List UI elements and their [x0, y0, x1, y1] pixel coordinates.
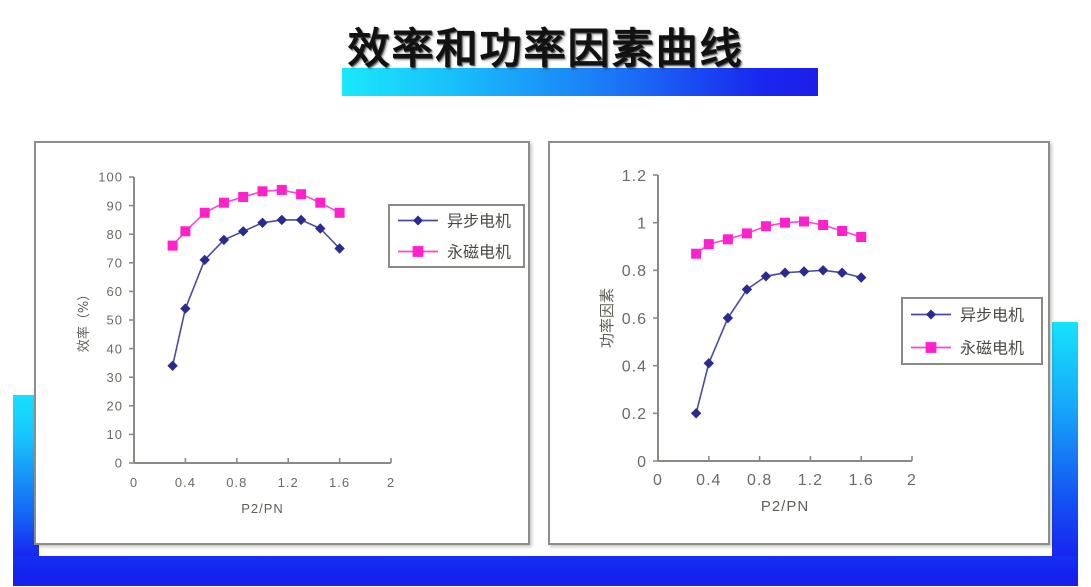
y-tick-label: 50	[107, 313, 123, 328]
data-point-marker-diamond	[238, 226, 248, 236]
x-tick-label: 0.4	[175, 475, 196, 490]
y-tick-label: 30	[107, 370, 123, 385]
legend-marker-square	[413, 246, 424, 257]
power-factor-chart-svg: 00.20.40.60.811.200.40.81.21.62P2/PN功率因素…	[550, 143, 1048, 543]
data-point-marker-square	[219, 198, 229, 208]
x-tick-label: 2	[907, 472, 917, 489]
chart-legend: 异步电机永磁电机	[902, 298, 1042, 364]
data-point-marker-diamond	[704, 358, 714, 368]
y-tick-label: 70	[107, 255, 123, 270]
data-point-marker-square	[780, 218, 790, 228]
data-point-marker-square	[691, 249, 701, 259]
y-tick-label: 20	[107, 398, 123, 413]
decorative-right-accent-bar	[1052, 322, 1078, 562]
x-tick-label: 1.2	[278, 475, 299, 490]
y-tick-label: 90	[107, 198, 123, 213]
data-point-marker-diamond	[818, 265, 828, 275]
data-point-marker-square	[315, 198, 325, 208]
x-tick-label: 0	[130, 475, 138, 490]
efficiency-plot-area: 010203040506070809010000.40.81.21.62P2/P…	[36, 143, 528, 543]
data-point-marker-diamond	[742, 284, 752, 294]
legend-label-permanent-magnet: 永磁电机	[447, 243, 511, 262]
x-tick-label: 2	[387, 475, 395, 490]
data-point-marker-diamond	[277, 215, 287, 225]
data-point-marker-square	[296, 189, 306, 199]
y-tick-label: 0.4	[622, 358, 647, 375]
data-point-marker-square	[168, 241, 178, 251]
data-point-marker-diamond	[761, 271, 771, 281]
data-point-marker-diamond	[167, 361, 177, 371]
efficiency-chart-svg: 010203040506070809010000.40.81.21.62P2/P…	[36, 143, 528, 543]
data-point-marker-square	[742, 228, 752, 238]
slide-title-block: 效率和功率因素曲线	[0, 18, 1091, 110]
data-point-marker-square	[837, 226, 847, 236]
x-tick-label: 0.8	[747, 472, 772, 489]
x-tick-label: 1.2	[798, 472, 823, 489]
y-axis-title: 效率（%）	[76, 288, 92, 352]
data-point-marker-diamond	[257, 218, 267, 228]
efficiency-chart-panel: 010203040506070809010000.40.81.21.62P2/P…	[34, 141, 530, 545]
y-tick-label: 0	[637, 454, 647, 471]
y-tick-label: 0.6	[622, 311, 647, 328]
y-tick-label: 1	[637, 215, 647, 232]
x-tick-label: 0.4	[696, 472, 721, 489]
y-tick-label: 80	[107, 227, 123, 242]
data-point-marker-diamond	[780, 268, 790, 278]
data-point-marker-square	[335, 208, 345, 218]
y-tick-label: 40	[107, 341, 123, 356]
series-line-permanent-magnet	[696, 222, 861, 254]
y-tick-label: 10	[107, 427, 123, 442]
legend-label-permanent-magnet: 永磁电机	[960, 339, 1024, 358]
data-point-marker-square	[799, 217, 809, 227]
data-point-marker-diamond	[691, 408, 701, 418]
page-title: 效率和功率因素曲线	[0, 18, 1091, 80]
data-point-marker-square	[258, 186, 268, 196]
legend-label-asynchronous: 异步电机	[447, 212, 511, 231]
y-tick-label: 1.2	[622, 168, 647, 185]
series-line-asynchronous	[173, 220, 340, 366]
data-point-marker-square	[704, 239, 714, 249]
power-factor-chart-panel: 00.20.40.60.811.200.40.81.21.62P2/PN功率因素…	[548, 141, 1050, 545]
data-point-marker-square	[277, 185, 287, 195]
data-point-marker-square	[200, 208, 210, 218]
series-line-permanent-magnet	[173, 190, 340, 246]
y-tick-label: 60	[107, 284, 123, 299]
data-point-marker-square	[856, 232, 866, 242]
data-point-marker-diamond	[180, 303, 190, 313]
data-point-marker-diamond	[296, 215, 306, 225]
legend-marker-square	[926, 342, 937, 353]
data-point-marker-square	[238, 192, 248, 202]
y-axis-title: 功率因素	[598, 288, 616, 348]
data-point-marker-diamond	[856, 272, 866, 282]
y-tick-label: 0	[115, 456, 123, 471]
data-point-marker-diamond	[799, 266, 810, 276]
data-point-marker-diamond	[723, 313, 733, 323]
series-line-asynchronous	[696, 270, 861, 413]
x-axis-title: P2/PN	[761, 498, 809, 515]
power-factor-plot-area: 00.20.40.60.811.200.40.81.21.62P2/PN功率因素…	[550, 143, 1048, 543]
data-point-marker-square	[723, 234, 733, 244]
data-point-marker-square	[761, 221, 771, 231]
data-point-marker-square	[180, 226, 190, 236]
x-tick-label: 1.6	[849, 472, 874, 489]
chart-legend: 异步电机永磁电机	[389, 205, 524, 267]
y-tick-label: 0.2	[622, 406, 647, 423]
x-tick-label: 1.6	[329, 475, 350, 490]
y-tick-label: 100	[98, 170, 123, 185]
x-tick-label: 0.8	[226, 475, 247, 490]
y-tick-label: 0.8	[622, 263, 647, 280]
x-tick-label: 0	[653, 472, 663, 489]
legend-label-asynchronous: 异步电机	[960, 306, 1024, 325]
decorative-bottom-accent-bar	[13, 556, 1078, 586]
x-axis-title: P2/PN	[241, 501, 284, 516]
data-point-marker-diamond	[837, 268, 847, 278]
data-point-marker-square	[818, 220, 828, 230]
